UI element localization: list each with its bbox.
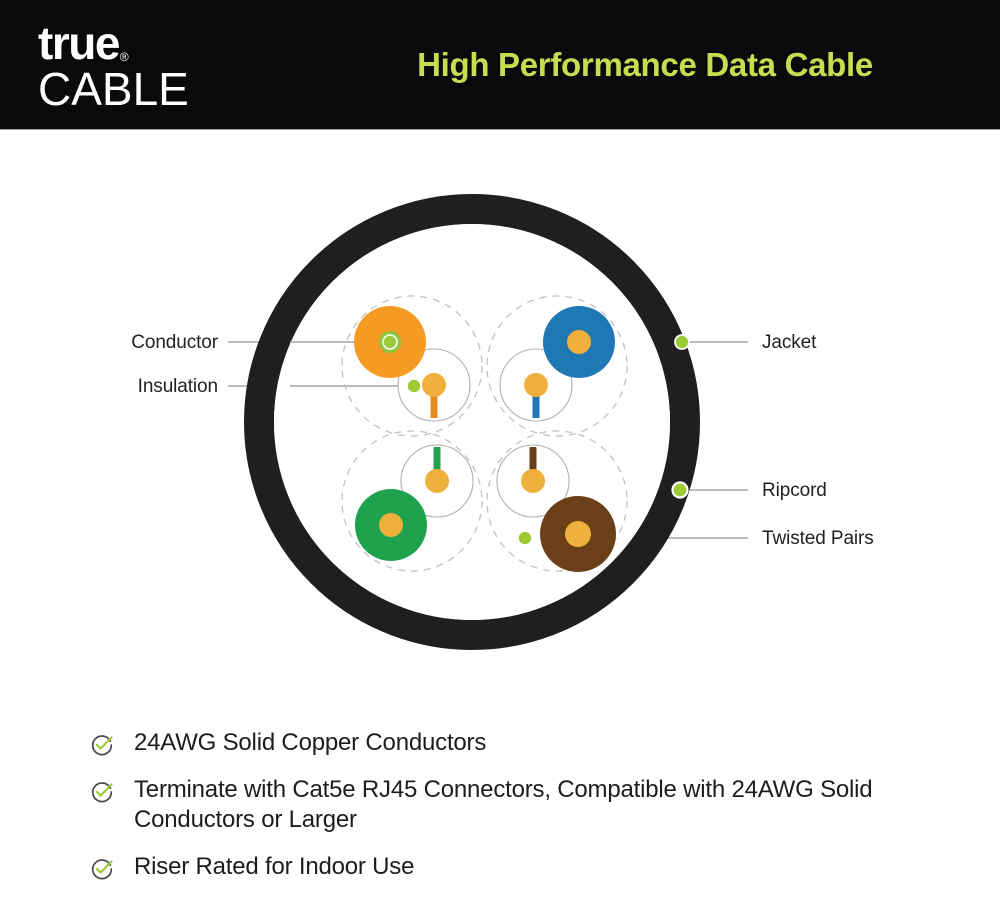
header-bar: true® CABLE High Performance Data Cable (0, 0, 1000, 130)
list-item: Riser Rated for Indoor Use (90, 852, 950, 883)
callout-dot-insulation[interactable] (407, 379, 421, 393)
list-item: Terminate with Cat5e RJ45 Connectors, Co… (90, 775, 950, 836)
label-conductor: Conductor (131, 332, 219, 353)
brand-logo: true® CABLE (38, 20, 298, 112)
logo-word-true: true (38, 20, 119, 66)
label-ripcord: Ripcord (762, 480, 827, 501)
conductor-core-brown (565, 521, 591, 547)
label-jacket: Jacket (762, 332, 817, 353)
conductor-core-blue (567, 330, 591, 354)
logo-word-cable: CABLE (38, 66, 298, 112)
registered-trademark-icon: ® (120, 51, 129, 63)
feature-label: 24AWG Solid Copper Conductors (134, 728, 486, 759)
callout-dot-jacket[interactable] (675, 335, 689, 349)
check-circle-icon (90, 780, 114, 804)
conductor-core-orange-white (422, 373, 446, 397)
feature-label: Terminate with Cat5e RJ45 Connectors, Co… (134, 775, 950, 836)
logo-top-row: true® (38, 20, 298, 64)
check-circle-icon (90, 733, 114, 757)
callout-dot-conductor[interactable] (383, 335, 397, 349)
callout-dot-ripcord[interactable] (673, 483, 688, 498)
conductor-core-green (379, 513, 403, 537)
product-infographic: true® CABLE High Performance Data Cable (0, 0, 1000, 916)
cable-interior (274, 224, 670, 620)
list-item: 24AWG Solid Copper Conductors (90, 728, 950, 759)
label-twisted-pairs: Twisted Pairs (762, 528, 874, 549)
page-title: High Performance Data Cable (300, 0, 990, 130)
conductor-core-blue-white (524, 373, 548, 397)
conductor-core-brown-white (521, 469, 545, 493)
label-insulation: Insulation (138, 376, 218, 397)
feature-label: Riser Rated for Indoor Use (134, 852, 414, 883)
cable-cross-section-diagram: Conductor Insulation Jacket Ripcord Twis… (0, 131, 1000, 711)
feature-list: 24AWG Solid Copper Conductors Terminate … (90, 728, 950, 883)
check-circle-icon (90, 857, 114, 881)
callout-dot-twisted-pairs[interactable] (518, 531, 532, 545)
conductor-core-green-white (425, 469, 449, 493)
